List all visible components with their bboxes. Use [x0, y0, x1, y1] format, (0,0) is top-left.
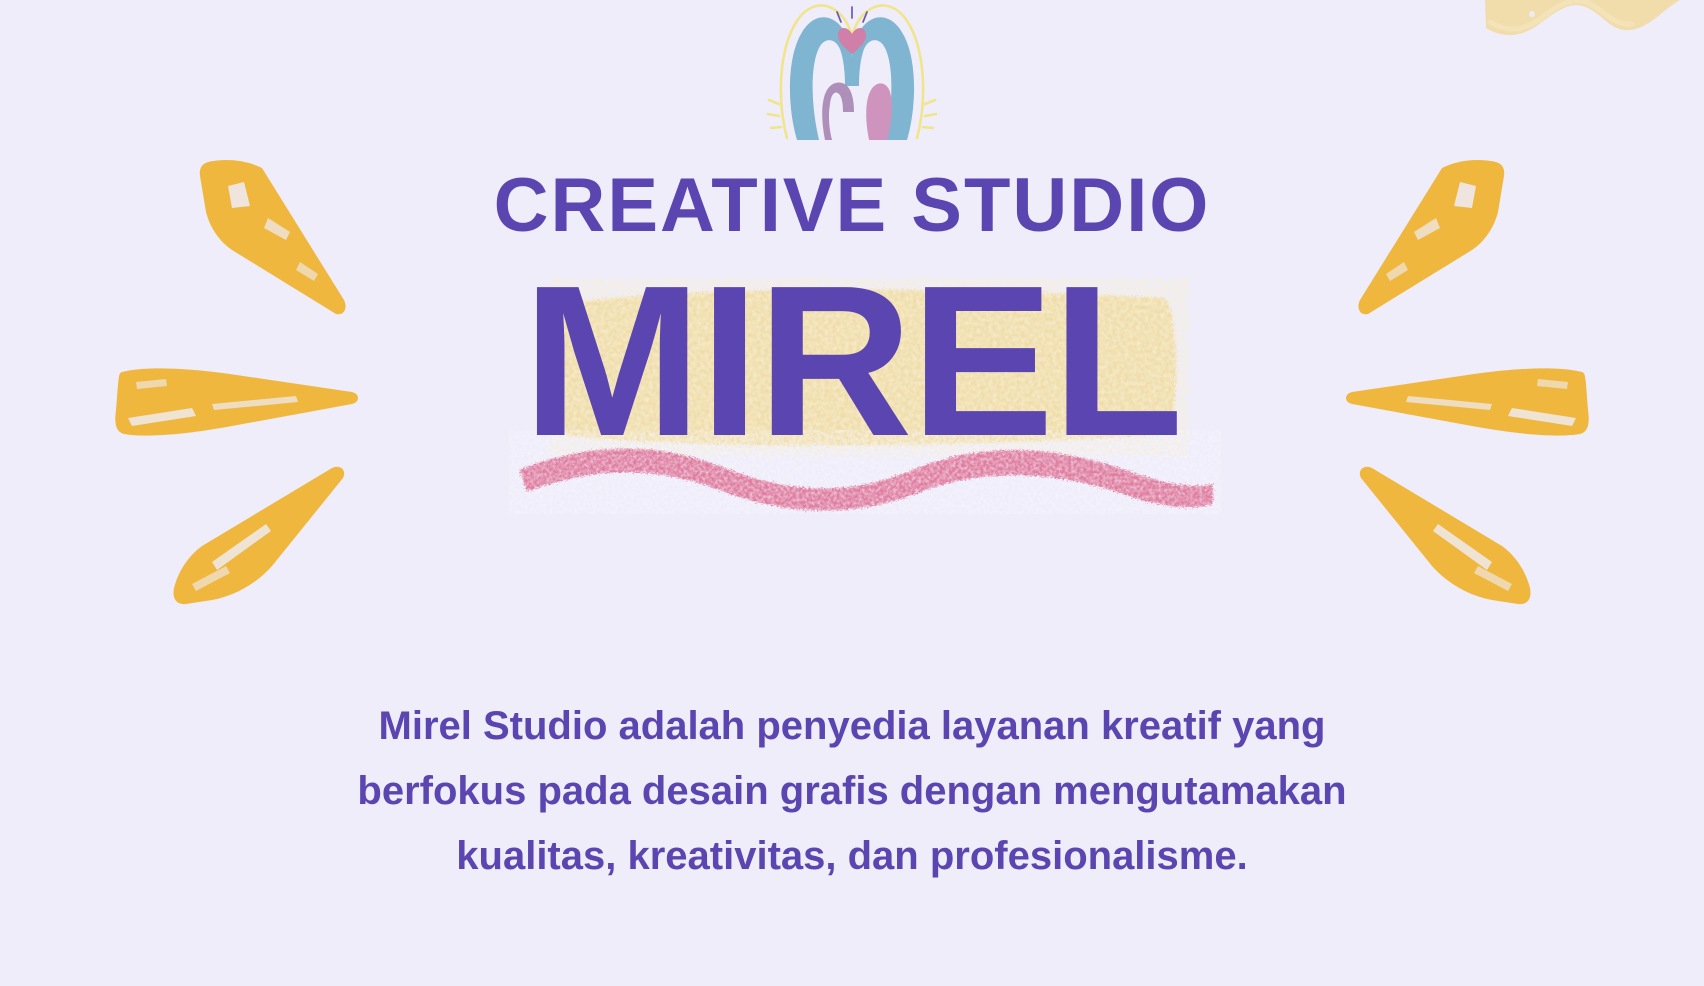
slide-canvas: CREATIVE STUDIO MIREL: [0, 0, 1704, 986]
headline-block: CREATIVE STUDIO MIREL: [0, 168, 1704, 460]
tagline-line-3: kualitas, kreativitas, dan profesionalis…: [307, 824, 1397, 889]
tagline-paragraph: Mirel Studio adalah penyedia layanan kre…: [307, 694, 1397, 888]
ray-lower-right: [1360, 467, 1531, 604]
wordmark-wrap: MIREL: [517, 262, 1188, 460]
tagline-line-1: Mirel Studio adalah penyedia layanan kre…: [307, 694, 1397, 759]
mirel-logo-mark: [757, 0, 947, 144]
logo-letter-m-right: [866, 83, 892, 140]
eyebrow-title: CREATIVE STUDIO: [0, 168, 1704, 244]
logo-letter-m-left: [822, 83, 854, 141]
corner-wave-top-right: [1484, 0, 1704, 46]
wordmark-title: MIREL: [523, 262, 1182, 460]
tagline-line-2: berfokus pada desain grafis dengan mengu…: [307, 759, 1397, 824]
ray-lower-left: [174, 467, 345, 604]
